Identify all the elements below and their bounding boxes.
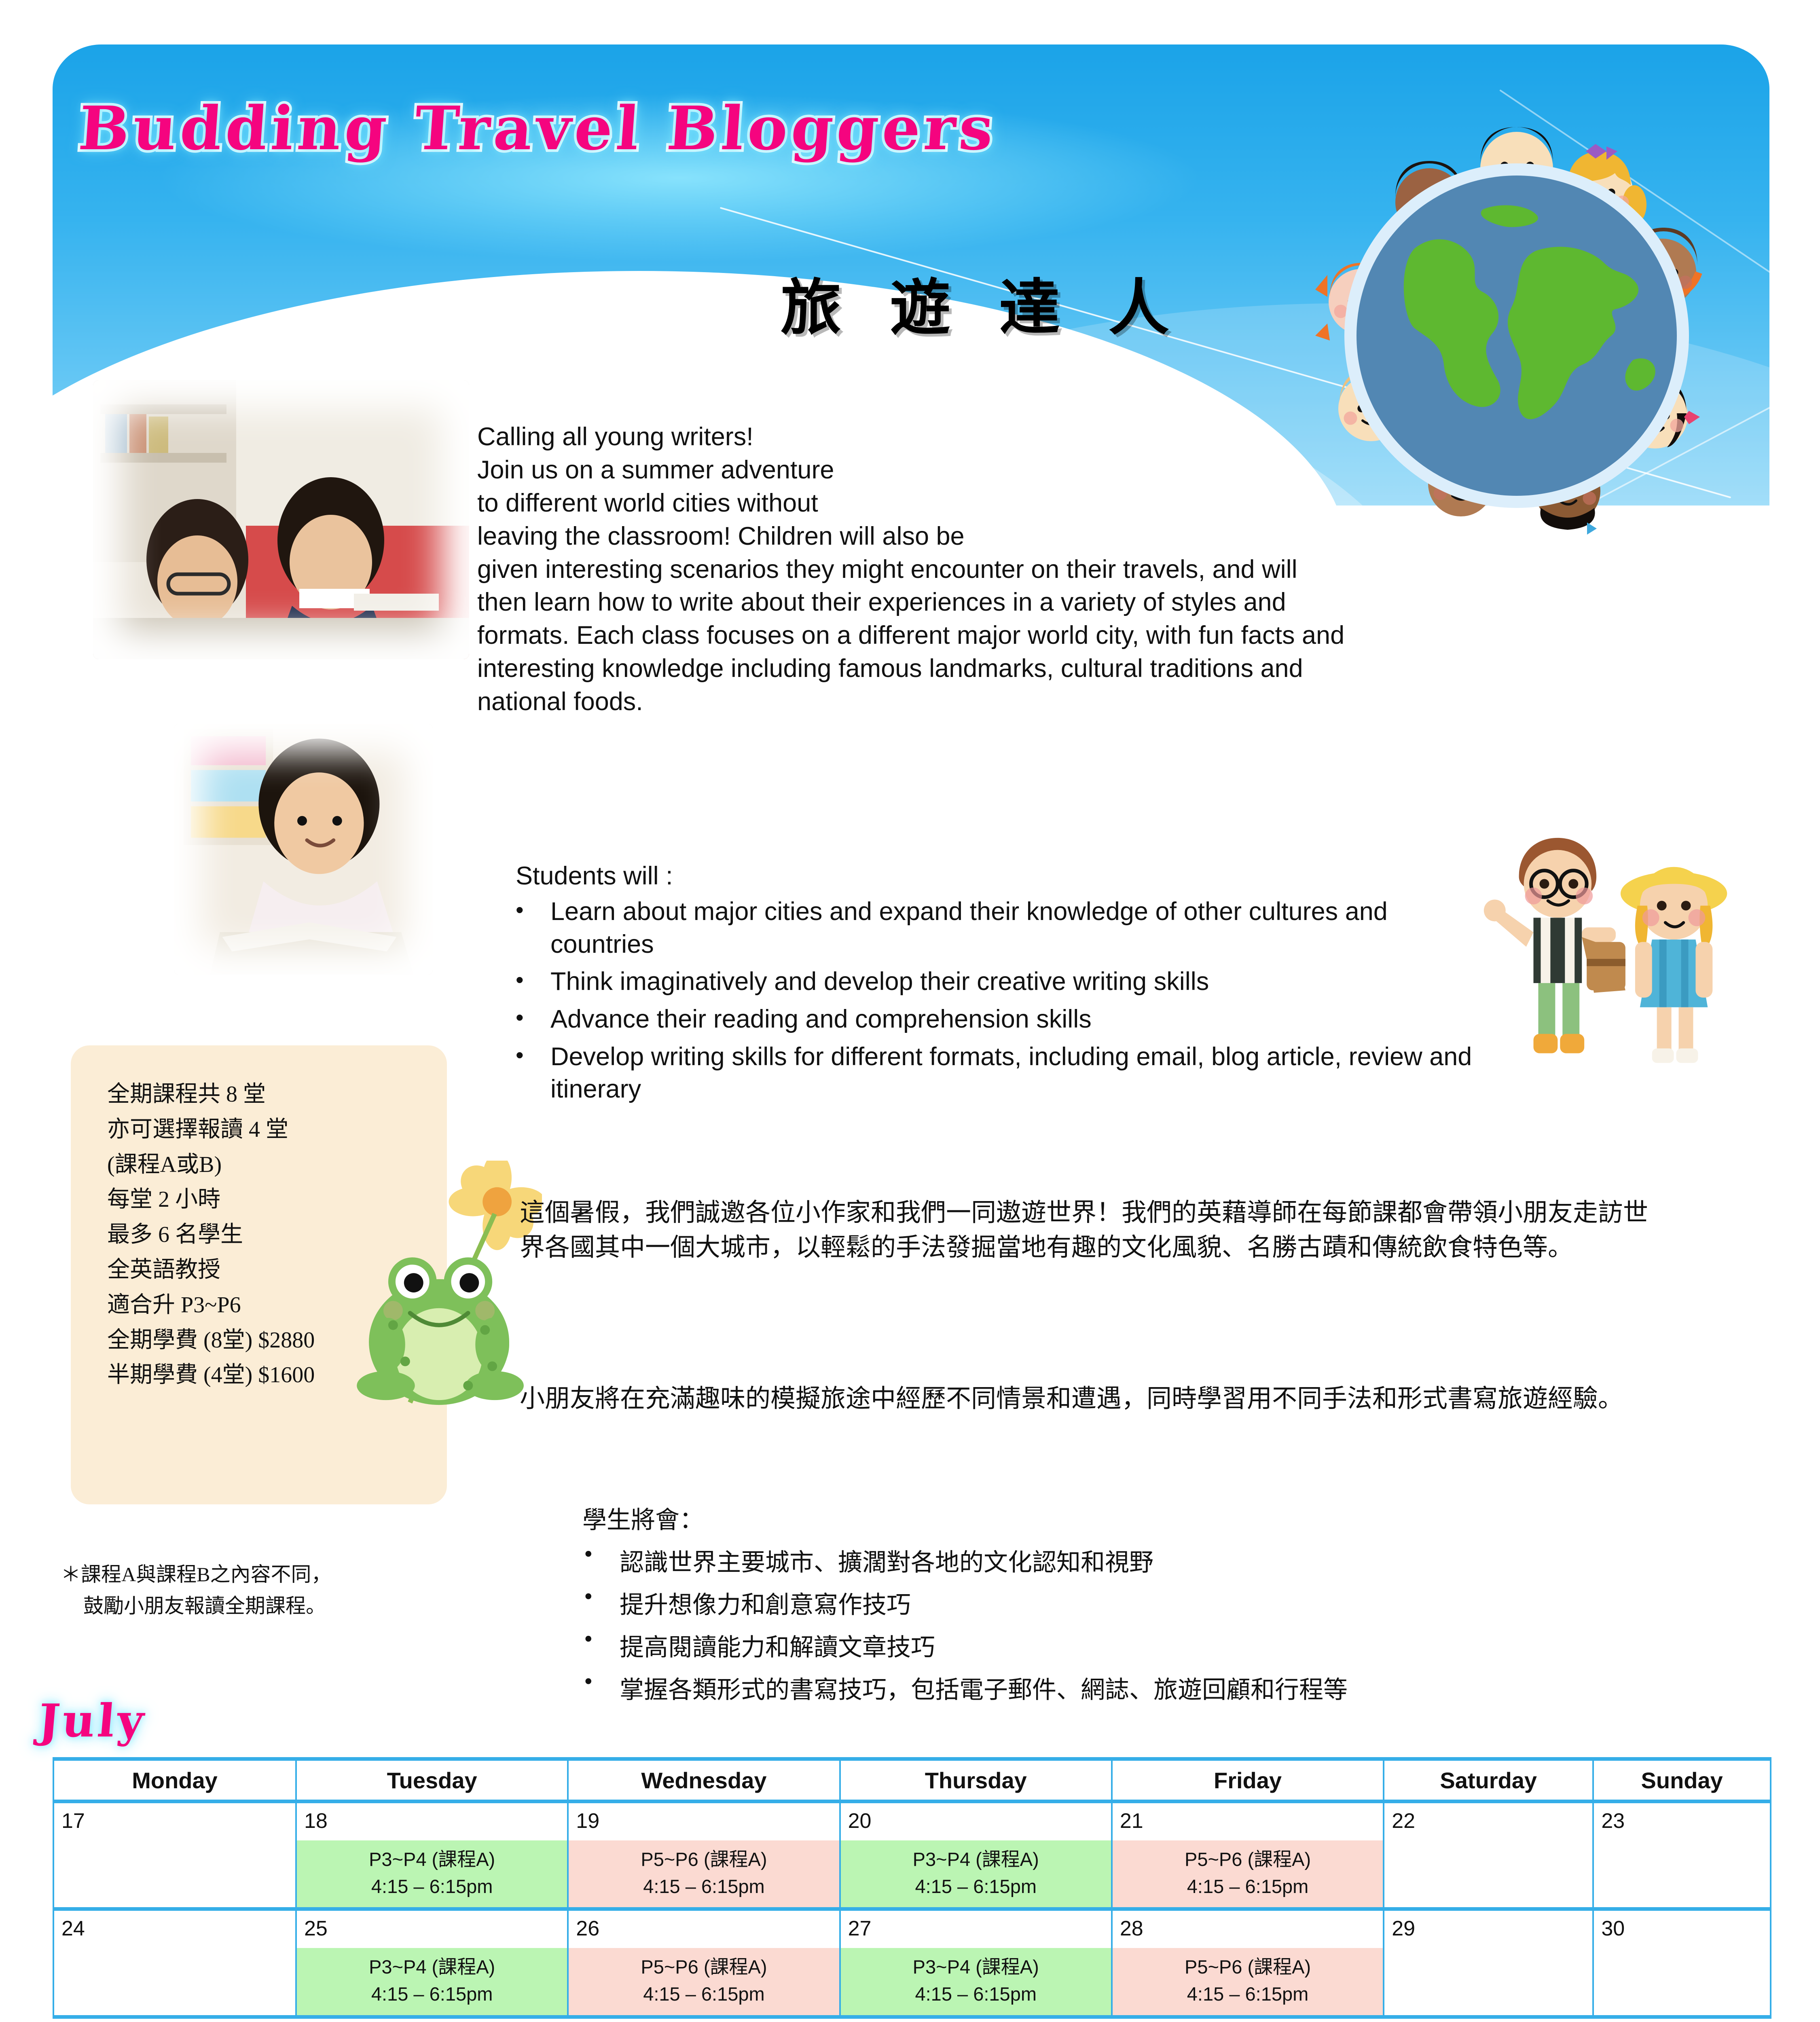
calendar-day-number: 18 xyxy=(297,1803,567,1840)
list-item: • 認識世界主要城市、擴濶對各地的文化認知和視野 xyxy=(582,1543,1682,1578)
calendar-header-tuesday: Tuesday xyxy=(296,1759,568,1802)
class-session-slot[interactable]: P3~P4 (課程A)4:15 – 6:15pm xyxy=(841,1948,1111,2015)
frog-icon xyxy=(357,1257,524,1405)
info-line: 全期課程共 8 堂 xyxy=(107,1077,447,1112)
session-class-label: P5~P6 (課程A) xyxy=(1113,1954,1383,1981)
session-class-label: P5~P6 (課程A) xyxy=(569,1954,839,1981)
calendar-header-row: MondayTuesdayWednesdayThursdayFridaySatu… xyxy=(53,1759,1771,1802)
calendar-day-cell[interactable]: 29 xyxy=(1384,1909,1593,2017)
intro-line: then learn how to write about their expe… xyxy=(477,586,1642,619)
calendar-day-number: 27 xyxy=(841,1911,1111,1948)
calendar-day-cell[interactable]: 22 xyxy=(1384,1802,1593,1909)
calendar-day-number: 25 xyxy=(297,1911,567,1948)
bullet-icon: • xyxy=(582,1543,620,1578)
calendar-day-cell[interactable]: 27P3~P4 (課程A)4:15 – 6:15pm xyxy=(840,1909,1112,2017)
session-class-label: P5~P6 (課程A) xyxy=(569,1846,839,1873)
calendar-header-thursday: Thursday xyxy=(840,1759,1112,1802)
class-session-slot[interactable]: P3~P4 (課程A)4:15 – 6:15pm xyxy=(841,1840,1111,1907)
calendar-day-number: 30 xyxy=(1594,1911,1770,1948)
intro-line: given interesting scenarios they might e… xyxy=(477,553,1642,586)
calendar-day-number: 20 xyxy=(841,1803,1111,1840)
list-item: • Advance their reading and comprehensio… xyxy=(516,1003,1486,1036)
session-time-label: 4:15 – 6:15pm xyxy=(569,1981,839,2008)
calendar-day-cell[interactable]: 17 xyxy=(53,1802,296,1909)
info-line: 亦可選擇報讀 4 堂 xyxy=(107,1112,447,1147)
calendar-day-cell[interactable]: 19P5~P6 (課程A)4:15 – 6:15pm xyxy=(568,1802,840,1909)
class-session-slot[interactable]: P5~P6 (課程A)4:15 – 6:15pm xyxy=(569,1840,839,1907)
class-session-slot[interactable]: P5~P6 (課程A)4:15 – 6:15pm xyxy=(1113,1948,1383,2015)
intro-paragraph: Calling all young writers! Join us on a … xyxy=(477,421,1642,719)
calendar-day-cell[interactable]: 25P3~P4 (課程A)4:15 – 6:15pm xyxy=(296,1909,568,2017)
calendar-july: MondayTuesdayWednesdayThursdayFridaySatu… xyxy=(53,1757,1771,2019)
class-session-slot[interactable]: P5~P6 (課程A)4:15 – 6:15pm xyxy=(569,1948,839,2015)
list-item-label: 提高閱讀能力和解讀文章技巧 xyxy=(620,1628,935,1663)
session-time-label: 4:15 – 6:15pm xyxy=(1113,1873,1383,1900)
students-will-section: Students will : • Learn about major citi… xyxy=(516,861,1486,1106)
calendar-day-number: 19 xyxy=(569,1803,839,1840)
calendar-header-wednesday: Wednesday xyxy=(568,1759,840,1802)
girl-character xyxy=(1621,867,1727,1063)
calendar-header-friday: Friday xyxy=(1112,1759,1384,1802)
intro-line: leaving the classroom! Children will als… xyxy=(477,520,1642,553)
students-will-section-chinese: 學生將會： • 認識世界主要城市、擴濶對各地的文化認知和視野 • 提升想像力和創… xyxy=(582,1500,1682,1705)
list-item: • Think imaginatively and develop their … xyxy=(516,965,1486,998)
calendar-day-number: 28 xyxy=(1113,1911,1383,1948)
calendar-day-cell[interactable]: 18P3~P4 (課程A)4:15 – 6:15pm xyxy=(296,1802,568,1909)
calendar-day-cell[interactable]: 30 xyxy=(1593,1909,1771,2017)
frog-with-flower-illustration xyxy=(352,1161,542,1419)
photo-girl-reading xyxy=(174,724,433,975)
list-item-label: 掌握各類形式的書寫技巧，包括電子郵件、網誌、旅遊回顧和行程等 xyxy=(620,1670,1348,1705)
bullet-icon: • xyxy=(582,1585,620,1620)
calendar-day-number: 17 xyxy=(54,1803,295,1840)
boy-character xyxy=(1484,838,1625,1053)
session-class-label: P5~P6 (課程A) xyxy=(1113,1846,1383,1873)
calendar-day-cell[interactable]: 24 xyxy=(53,1909,296,2017)
session-class-label: P3~P4 (課程A) xyxy=(297,1954,567,1981)
session-time-label: 4:15 – 6:15pm xyxy=(297,1873,567,1900)
chinese-paragraph-2: 小朋友將在充滿趣味的模擬旅途中經歷不同情景和遭遇，同時學習用不同手法和形式書寫旅… xyxy=(520,1381,1670,1416)
calendar-day-cell[interactable]: 20P3~P4 (課程A)4:15 – 6:15pm xyxy=(840,1802,1112,1909)
bullet-icon: • xyxy=(582,1670,620,1705)
class-session-slot[interactable]: P3~P4 (課程A)4:15 – 6:15pm xyxy=(297,1840,567,1907)
bullet-icon: • xyxy=(516,895,550,960)
calendar-day-cell[interactable]: 26P5~P6 (課程A)4:15 – 6:15pm xyxy=(568,1909,840,2017)
session-time-label: 4:15 – 6:15pm xyxy=(1113,1981,1383,2008)
list-item: • 掌握各類形式的書寫技巧，包括電子郵件、網誌、旅遊回顧和行程等 xyxy=(582,1670,1682,1705)
footnote-line-2: 鼓勵小朋友報讀全期課程。 xyxy=(61,1591,514,1622)
calendar-week-row: 2425P3~P4 (課程A)4:15 – 6:15pm26P5~P6 (課程A… xyxy=(53,1909,1771,2017)
session-time-label: 4:15 – 6:15pm xyxy=(841,1873,1111,1900)
calendar-header-saturday: Saturday xyxy=(1384,1759,1593,1802)
students-will-heading-chinese: 學生將會： xyxy=(582,1500,1682,1536)
calendar-day-cell[interactable]: 21P5~P6 (課程A)4:15 – 6:15pm xyxy=(1112,1802,1384,1909)
footnote: ＊課程A與課程B之內容不同， 鼓勵小朋友報讀全期課程。 xyxy=(61,1559,514,1622)
chinese-paragraph-1: 這個暑假，我們誠邀各位小作家和我們一同遨遊世界！我們的英藉導師在每節課都會帶領小… xyxy=(520,1195,1670,1264)
list-item-label: Develop writing skills for different for… xyxy=(550,1041,1486,1106)
class-session-slot[interactable]: P3~P4 (課程A)4:15 – 6:15pm xyxy=(297,1948,567,2015)
calendar-day-number: 29 xyxy=(1384,1911,1592,1948)
list-item-label: 認識世界主要城市、擴濶對各地的文化認知和視野 xyxy=(620,1543,1153,1578)
list-item-label: Advance their reading and comprehension … xyxy=(550,1003,1486,1036)
footnote-line-1: ＊課程A與課程B之內容不同， xyxy=(61,1559,514,1591)
calendar-day-number: 24 xyxy=(54,1911,295,1948)
list-item-label: Learn about major cities and expand thei… xyxy=(550,895,1486,960)
bullet-icon: • xyxy=(516,1003,550,1036)
bullet-icon: • xyxy=(582,1628,620,1663)
calendar-header-sunday: Sunday xyxy=(1593,1759,1771,1802)
intro-line: interesting knowledge including famous l… xyxy=(477,652,1642,685)
month-label-july: July xyxy=(36,1694,148,1747)
page-title: Budding Travel Bloggers xyxy=(76,93,999,163)
list-item-label: 提升想像力和創意寫作技巧 xyxy=(620,1585,911,1620)
intro-line: Join us on a summer adventure xyxy=(477,454,1642,487)
students-will-heading: Students will : xyxy=(516,861,1486,890)
calendar-header-monday: Monday xyxy=(53,1759,296,1802)
calendar-day-cell[interactable]: 23 xyxy=(1593,1802,1771,1909)
list-item: • 提升想像力和創意寫作技巧 xyxy=(582,1585,1682,1620)
intro-line: to different world cities without xyxy=(477,487,1642,520)
list-item: • 提高閱讀能力和解讀文章技巧 xyxy=(582,1628,1682,1663)
bullet-icon: • xyxy=(516,1041,550,1106)
calendar-day-cell[interactable]: 28P5~P6 (課程A)4:15 – 6:15pm xyxy=(1112,1909,1384,2017)
page-title-chinese: 旅 遊 達 人 xyxy=(781,259,1183,347)
calendar-day-number: 21 xyxy=(1113,1803,1383,1840)
calendar-day-number: 23 xyxy=(1594,1803,1770,1840)
calendar-day-number: 26 xyxy=(569,1911,839,1948)
session-class-label: P3~P4 (課程A) xyxy=(841,1846,1111,1873)
bullet-icon: • xyxy=(516,965,550,998)
calendar-day-number: 22 xyxy=(1384,1803,1592,1840)
session-class-label: P3~P4 (課程A) xyxy=(841,1954,1111,1981)
list-item: • Learn about major cities and expand th… xyxy=(516,895,1486,960)
session-time-label: 4:15 – 6:15pm xyxy=(297,1981,567,2008)
calendar-week-row: 1718P3~P4 (課程A)4:15 – 6:15pm19P5~P6 (課程A… xyxy=(53,1802,1771,1909)
session-class-label: P3~P4 (課程A) xyxy=(297,1846,567,1873)
session-time-label: 4:15 – 6:15pm xyxy=(841,1981,1111,2008)
intro-line: national foods. xyxy=(477,685,1642,719)
intro-line: Calling all young writers! xyxy=(477,421,1642,454)
intro-line: formats. Each class focuses on a differe… xyxy=(477,619,1642,652)
list-item: • Develop writing skills for different f… xyxy=(516,1041,1486,1106)
photo-students-in-classroom xyxy=(93,380,469,659)
boy-and-girl-illustration xyxy=(1456,821,1763,1128)
class-session-slot[interactable]: P5~P6 (課程A)4:15 – 6:15pm xyxy=(1113,1840,1383,1907)
session-time-label: 4:15 – 6:15pm xyxy=(569,1873,839,1900)
list-item-label: Think imaginatively and develop their cr… xyxy=(550,965,1486,998)
